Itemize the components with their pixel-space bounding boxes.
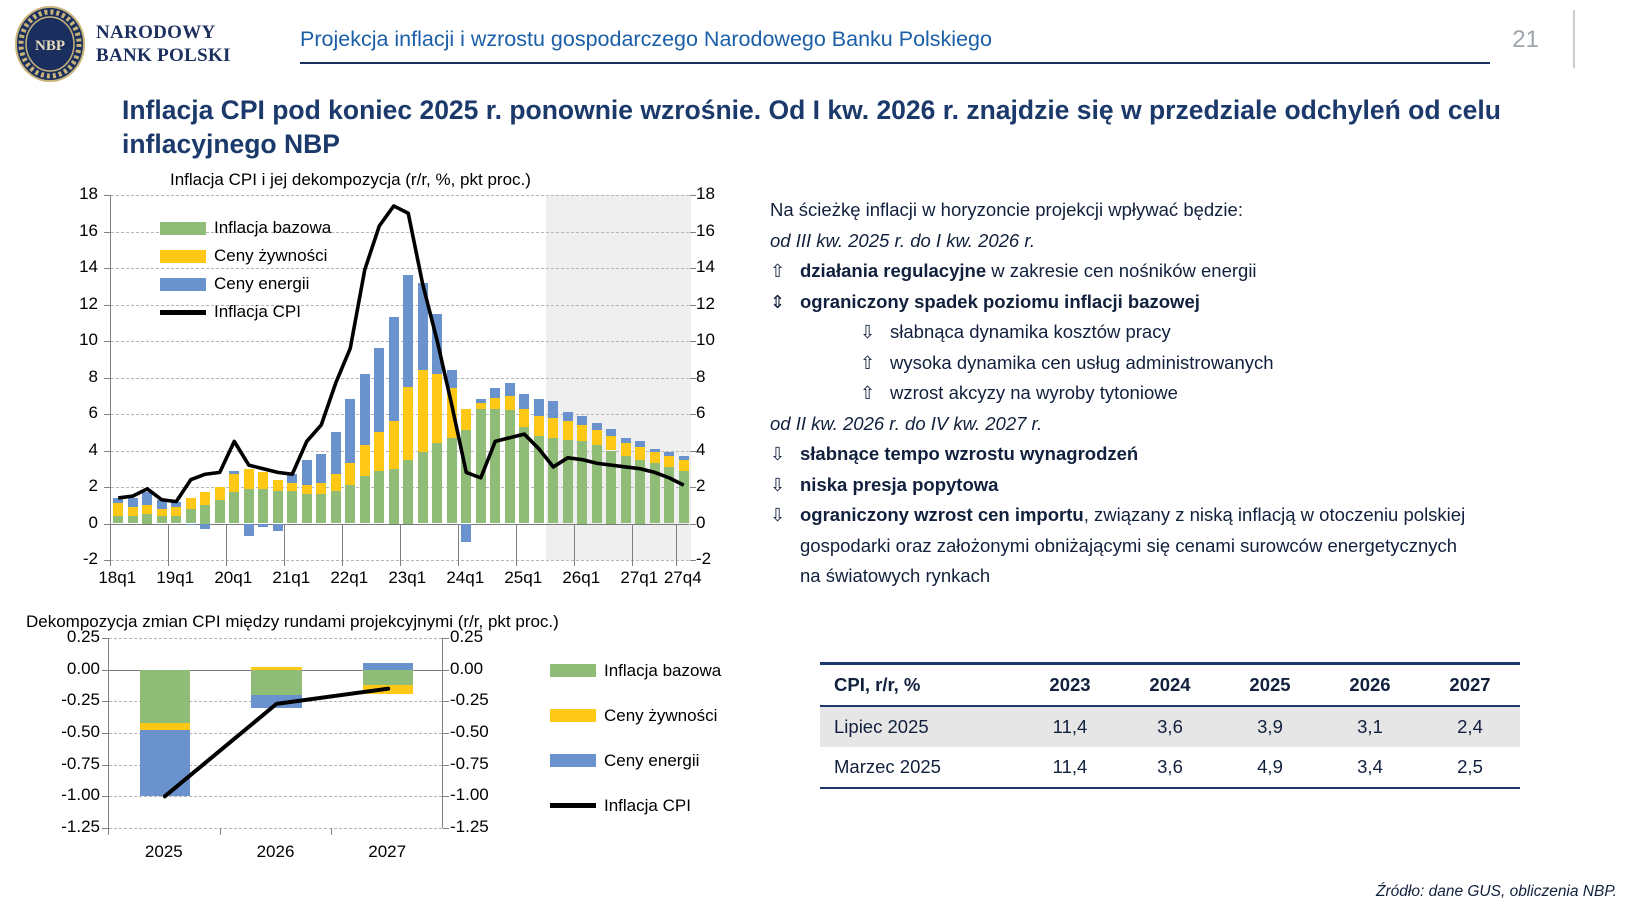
chart1-ytick-label: 12 (696, 294, 740, 314)
header-divider (300, 62, 1490, 64)
header-title: Projekcja inflacji i wzrostu gospodarcze… (300, 26, 1490, 52)
table-row: Lipiec 202511,43,63,93,12,4 (820, 706, 1520, 747)
chart2-legend: Inflacja bazowaCeny żywnościCeny energii… (550, 648, 721, 828)
chart2-ytick-label: -0.25 (40, 690, 100, 710)
chart2-ytick-mark (102, 638, 108, 639)
chart1-ytick-mark (104, 232, 110, 233)
chart2-ytick-mark (443, 733, 449, 734)
chart1-xtick (342, 524, 343, 567)
chart1-xtick-label: 23q1 (377, 568, 437, 588)
legend-swatch (160, 278, 206, 291)
arrow-icon: ⇩ (770, 500, 785, 531)
slide-title: Inflacja CPI pod koniec 2025 r. ponownie… (122, 93, 1522, 161)
chart1-ytick-mark (690, 232, 696, 233)
chart2-ytick-label: 0.00 (450, 659, 512, 679)
chart2-legend-item: Ceny żywności (550, 693, 721, 738)
chart1-ytick-label: 6 (54, 403, 98, 423)
chart1-xtick-label: 19q1 (145, 568, 205, 588)
table-cell: 2,5 (1420, 747, 1520, 788)
chart1-ytick-label: 2 (54, 476, 98, 496)
chart1-title: Inflacja CPI i jej dekompozycja (r/r, %,… (170, 170, 531, 190)
chart1-ytick-label: 8 (54, 367, 98, 387)
chart2-ytick-mark (443, 796, 449, 797)
chart2-ytick-mark (443, 638, 449, 639)
chart1-xtick-label: 27q4 (653, 568, 713, 588)
chart2-plot-area (108, 638, 443, 828)
chart1-ytick-label: 14 (54, 257, 98, 277)
chart2-ytick-mark (443, 670, 449, 671)
chart2-ytick-label: 0.25 (40, 627, 100, 647)
chart1-xtick (284, 524, 285, 567)
table-cell: 3,6 (1120, 747, 1220, 788)
chart1-xtick (226, 524, 227, 567)
chart1-xtick (632, 524, 633, 567)
chart1-xtick (110, 524, 111, 567)
table-row: Marzec 202511,43,64,93,42,5 (820, 747, 1520, 788)
table-body: Lipiec 202511,43,63,93,12,4Marzec 202511… (820, 706, 1520, 788)
chart1-ytick-mark (690, 451, 696, 452)
chart1-ytick-mark (104, 341, 110, 342)
chart1-ytick-mark (690, 195, 696, 196)
commentary-period-2: od II kw. 2026 r. do IV kw. 2027 r. (770, 409, 1620, 440)
arrow-icon: ⇧ (860, 348, 875, 379)
arrow-icon: ⇩ (770, 439, 785, 470)
chart1-ytick-label: 0 (696, 513, 740, 533)
commentary-intro: Na ścieżkę inflacji w horyzoncie projekc… (770, 195, 1620, 226)
commentary-bullet: ⇩niska presja popytowa (770, 470, 1620, 501)
chart2-ytick-label: 0.00 (40, 659, 100, 679)
gridline (109, 828, 442, 829)
chart2-ytick-mark (102, 796, 108, 797)
chart1-xtick-label: 22q1 (319, 568, 379, 588)
chart2-ytick-label: -0.75 (450, 754, 512, 774)
chart1-xtick (676, 524, 677, 567)
commentary-bullet: ⇧wzrost akcyzy na wyroby tytoniowe (770, 378, 1620, 409)
commentary-period-1: od III kw. 2025 r. do I kw. 2026 r. (770, 226, 1620, 257)
commentary-bullet: ⇩słabnąca dynamika kosztów pracy (770, 317, 1620, 348)
chart1-ytick-mark (104, 451, 110, 452)
chart2-legend-label: Ceny żywności (604, 706, 717, 726)
chart1-ytick-label: 16 (696, 221, 740, 241)
table-row-label: Lipiec 2025 (820, 706, 1020, 747)
chart1-ytick-mark (690, 305, 696, 306)
commentary-continuation: na światowych rynkach (770, 561, 1620, 592)
chart1-legend-item: Inflacja CPI (160, 298, 331, 326)
table-header-cell: 2027 (1420, 664, 1520, 707)
chart2-legend-label: Inflacja bazowa (604, 661, 721, 681)
chart1-ytick-mark (104, 487, 110, 488)
table-cell: 11,4 (1020, 706, 1120, 747)
chart1-legend-item: Ceny żywności (160, 242, 331, 270)
legend-swatch (550, 664, 596, 677)
chart1-ytick-label: 10 (696, 330, 740, 350)
commentary-bullet: ⇩słabnące tempo wzrostu wynagrodzeń (770, 439, 1620, 470)
commentary-continuation: gospodarki oraz założonymi obniżającymi … (770, 531, 1620, 562)
nbp-logo: NBP NARODOWY BANK POLSKI (14, 4, 264, 84)
chart1-ytick-label: 2 (696, 476, 740, 496)
commentary-text-block: Na ścieżkę inflacji w horyzoncie projekc… (770, 195, 1620, 592)
chart1-xtick-label: 18q1 (87, 568, 147, 588)
chart2-ytick-label: -0.75 (40, 754, 100, 774)
chart1-legend-label: Ceny energii (214, 274, 309, 294)
nbp-seal-icon: NBP (14, 5, 86, 83)
commentary-bullet: ⇩ograniczony wzrost cen importu, związan… (770, 500, 1620, 531)
chart1-ytick-label: -2 (696, 549, 740, 569)
table-cell: 3,4 (1320, 747, 1420, 788)
chart1-legend-label: Inflacja bazowa (214, 218, 331, 238)
chart2-ytick-label: -0.50 (450, 722, 512, 742)
table-cell: 4,9 (1220, 747, 1320, 788)
chart2-legend-item: Inflacja CPI (550, 783, 721, 828)
chart1-legend-label: Inflacja CPI (214, 302, 301, 322)
chart1-xtick-label: 26q1 (551, 568, 611, 588)
chart1-ytick-mark (690, 414, 696, 415)
table-cell: 11,4 (1020, 747, 1120, 788)
chart2-ytick-mark (443, 828, 449, 829)
chart2-ytick-label: -1.00 (40, 785, 100, 805)
slide-header: NBP NARODOWY BANK POLSKI Projekcja infla… (0, 0, 1635, 88)
table-cell: 2,4 (1420, 706, 1520, 747)
chart-cpi-decomposition: Inflacja CPI i jej dekompozycja (r/r, %,… (20, 170, 740, 595)
chart2-legend-label: Inflacja CPI (604, 796, 691, 816)
arrow-icon: ⇩ (860, 317, 875, 348)
legend-swatch (550, 709, 596, 722)
chart1-ytick-mark (690, 268, 696, 269)
chart1-ytick-label: 4 (696, 440, 740, 460)
table-header-row: CPI, r/r, %20232024202520262027 (820, 664, 1520, 707)
chart2-xtick-label: 2027 (352, 842, 422, 862)
chart1-ytick-label: 6 (696, 403, 740, 423)
chart2-ytick-mark (102, 765, 108, 766)
chart1-legend: Inflacja bazowaCeny żywnościCeny energii… (160, 214, 331, 326)
chart2-ytick-label: -1.25 (450, 817, 512, 837)
legend-line (550, 803, 596, 808)
chart1-legend-label: Ceny żywności (214, 246, 327, 266)
page-number-divider (1573, 10, 1575, 68)
chart1-xtick-label: 24q1 (435, 568, 495, 588)
arrow-icon: ⇧ (860, 378, 875, 409)
chart2-ytick-label: -1.00 (450, 785, 512, 805)
header-title-wrap: Projekcja inflacji i wzrostu gospodarcze… (300, 26, 1490, 52)
chart1-ytick-label: 14 (696, 257, 740, 277)
chart2-ytick-label: -0.50 (40, 722, 100, 742)
chart1-xtick-label: 21q1 (261, 568, 321, 588)
chart2-xtick (220, 828, 221, 835)
chart2-ytick-mark (443, 701, 449, 702)
chart2-ytick-label: -0.25 (450, 690, 512, 710)
logo-line-2: BANK POLSKI (96, 44, 231, 67)
chart2-ytick-mark (102, 701, 108, 702)
legend-swatch (550, 754, 596, 767)
legend-swatch (160, 222, 206, 235)
table-header-cell: 2024 (1120, 664, 1220, 707)
chart1-ytick-mark (690, 560, 696, 561)
arrow-icon: ⇧ (770, 256, 785, 287)
chart2-ytick-mark (102, 670, 108, 671)
chart2-xtick (331, 828, 332, 835)
table-cell: 3,9 (1220, 706, 1320, 747)
chart1-ytick-mark (690, 487, 696, 488)
logo-line-1: NARODOWY (96, 21, 231, 44)
chart1-xtick (168, 524, 169, 567)
chart2-ytick-mark (443, 765, 449, 766)
page-number: 21 (1512, 26, 1539, 54)
chart1-xtick (574, 524, 575, 567)
chart1-ytick-label: 18 (696, 184, 740, 204)
chart1-ytick-label: 16 (54, 221, 98, 241)
chart1-ytick-mark (690, 378, 696, 379)
legend-line (160, 310, 206, 315)
chart1-ytick-label: 0 (54, 513, 98, 533)
commentary-bullet: ⇕ograniczony spadek poziomu inflacji baz… (770, 287, 1620, 318)
chart1-ytick-mark (690, 524, 696, 525)
chart1-xtick (516, 524, 517, 567)
table-header-cell: 2025 (1220, 664, 1320, 707)
chart2-ytick-label: 0.25 (450, 627, 512, 647)
table-cell: 3,6 (1120, 706, 1220, 747)
table-header-cell: 2026 (1320, 664, 1420, 707)
chart1-ytick-mark (104, 414, 110, 415)
chart2-cpi-line (109, 638, 444, 828)
nbp-logo-text: NARODOWY BANK POLSKI (96, 21, 231, 67)
legend-swatch (160, 250, 206, 263)
chart1-ytick-label: -2 (54, 549, 98, 569)
chart2-legend-item: Ceny energii (550, 738, 721, 783)
chart2-xtick-label: 2025 (129, 842, 199, 862)
table-row-label: Marzec 2025 (820, 747, 1020, 788)
chart1-ytick-mark (104, 195, 110, 196)
chart1-xtick-label: 25q1 (493, 568, 553, 588)
chart1-ytick-mark (104, 378, 110, 379)
table-header-cell: CPI, r/r, % (820, 664, 1020, 707)
chart2-xtick (108, 828, 109, 835)
chart1-ytick-mark (104, 268, 110, 269)
svg-text:NBP: NBP (35, 38, 65, 54)
cpi-projection-table: CPI, r/r, %20232024202520262027 Lipiec 2… (820, 662, 1520, 789)
commentary-bullet: ⇧działania regulacyjne w zakresie cen no… (770, 256, 1620, 287)
commentary-bullet: ⇧wysoka dynamika cen usług administrowan… (770, 348, 1620, 379)
chart1-xtick-label: 20q1 (203, 568, 263, 588)
chart-cpi-round-changes: Dekompozycja zmian CPI między rundami pr… (20, 612, 760, 897)
chart2-ytick-mark (102, 733, 108, 734)
arrow-icon: ⇩ (770, 470, 785, 501)
chart1-ytick-label: 8 (696, 367, 740, 387)
chart1-xtick (400, 524, 401, 567)
chart1-ytick-label: 10 (54, 330, 98, 350)
table-cell: 3,1 (1320, 706, 1420, 747)
source-note: Źródło: dane GUS, obliczenia NBP. (1376, 883, 1617, 901)
chart1-ytick-label: 12 (54, 294, 98, 314)
chart1-ytick-label: 18 (54, 184, 98, 204)
chart1-legend-item: Inflacja bazowa (160, 214, 331, 242)
chart1-ytick-label: 4 (54, 440, 98, 460)
chart1-legend-item: Ceny energii (160, 270, 331, 298)
chart1-ytick-mark (104, 305, 110, 306)
arrow-icon: ⇕ (770, 287, 785, 318)
chart2-legend-item: Inflacja bazowa (550, 648, 721, 693)
chart2-ytick-label: -1.25 (40, 817, 100, 837)
chart1-ytick-mark (690, 341, 696, 342)
table-header-cell: 2023 (1020, 664, 1120, 707)
chart2-xtick-label: 2026 (241, 842, 311, 862)
chart2-legend-label: Ceny energii (604, 751, 699, 771)
chart1-xtick (458, 524, 459, 567)
